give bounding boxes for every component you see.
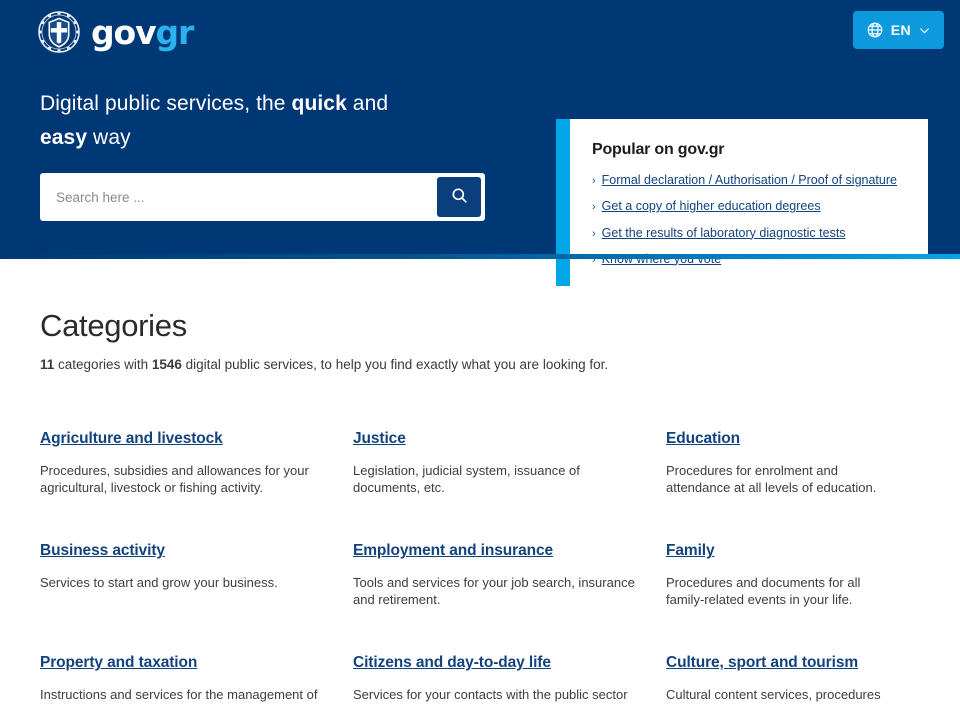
logo-text-gov: gov: [91, 13, 156, 52]
chevron-down-icon: [918, 24, 931, 37]
category-link-agriculture[interactable]: Agriculture and livestock: [40, 430, 223, 449]
hero-headline-bold-quick: quick: [292, 92, 347, 115]
greek-coat-of-arms-icon: [38, 11, 80, 53]
popular-list-item: › Get the results of laboratory diagnost…: [592, 225, 908, 241]
category-link-family[interactable]: Family: [666, 542, 715, 561]
top-bar: govgr EN: [0, 0, 960, 56]
hero-headline-part-1: Digital public services, the: [40, 92, 292, 115]
language-selector-button[interactable]: EN: [853, 11, 944, 49]
hero-content: Digital public services, the quick and e…: [0, 56, 960, 286]
chevron-right-icon: ›: [592, 176, 596, 187]
category-description: Services for your contacts with the publ…: [353, 686, 635, 706]
category-description: Instructions and services for the manage…: [40, 686, 322, 706]
page-title: Categories: [40, 309, 920, 343]
popular-accent-bar: [556, 119, 570, 286]
category-link-culture-sport-tourism[interactable]: Culture, sport and tourism: [666, 654, 858, 673]
category-link-business-activity[interactable]: Business activity: [40, 542, 165, 561]
categories-summary: 11 categories with 1546 digital public s…: [40, 356, 920, 375]
category-card-employment-insurance: Employment and insurance Tools and servi…: [353, 542, 666, 608]
category-card-property-taxation: Property and taxation Instructions and s…: [40, 654, 353, 706]
hero-left-column: Digital public services, the quick and e…: [0, 56, 556, 286]
search-icon: [450, 186, 469, 208]
popular-link-education-degrees[interactable]: Get a copy of higher education degrees: [602, 198, 821, 214]
category-link-property-taxation[interactable]: Property and taxation: [40, 654, 197, 673]
popular-links-list: › Formal declaration / Authorisation / P…: [592, 172, 908, 267]
govgr-logo[interactable]: govgr: [38, 11, 193, 53]
popular-list-item: › Formal declaration / Authorisation / P…: [592, 172, 908, 188]
category-description: Services to start and grow your business…: [40, 574, 322, 591]
category-card-justice: Justice Legislation, judicial system, is…: [353, 430, 666, 496]
category-card-business-activity: Business activity Services to start and …: [40, 542, 353, 608]
hero-gradient-divider: [0, 254, 960, 259]
main-content: Categories 11 categories with 1546 digit…: [0, 259, 960, 706]
category-link-education[interactable]: Education: [666, 430, 740, 449]
hero-headline-bold-easy: easy: [40, 126, 87, 149]
category-link-justice[interactable]: Justice: [353, 430, 406, 449]
hero-headline-part-2: and: [347, 92, 388, 115]
language-code-label: EN: [891, 23, 911, 37]
categories-count: 11: [40, 357, 54, 372]
hero-headline-part-3: way: [87, 126, 131, 149]
category-card-culture-sport-tourism: Culture, sport and tourism Cultural cont…: [666, 654, 920, 706]
popular-link-formal-declaration[interactable]: Formal declaration / Authorisation / Pro…: [602, 172, 897, 188]
category-description: Cultural content services, procedures fo…: [666, 686, 896, 706]
search-submit-button[interactable]: [437, 177, 481, 217]
category-description: Tools and services for your job search, …: [353, 574, 635, 609]
search-input[interactable]: [44, 177, 437, 217]
popular-link-laboratory-tests[interactable]: Get the results of laboratory diagnostic…: [602, 225, 846, 241]
categories-grid: Agriculture and livestock Procedures, su…: [40, 430, 920, 706]
popular-list-item: › Get a copy of higher education degrees: [592, 198, 908, 214]
services-count: 1546: [152, 357, 182, 372]
category-link-employment-insurance[interactable]: Employment and insurance: [353, 542, 553, 561]
chevron-right-icon: ›: [592, 229, 596, 240]
categories-summary-end: digital public services, to help you fin…: [182, 357, 608, 372]
logo-text-gr: gr: [156, 13, 194, 52]
popular-panel-body: Popular on gov.gr › Formal declaration /…: [570, 119, 928, 286]
popular-panel-title: Popular on gov.gr: [592, 141, 908, 159]
category-card-citizens-daily-life: Citizens and day-to-day life Services fo…: [353, 654, 666, 706]
search-bar: [40, 173, 485, 221]
category-description: Procedures and documents for all family-…: [666, 574, 896, 609]
category-link-citizens-daily-life[interactable]: Citizens and day-to-day life: [353, 654, 551, 673]
hero-headline: Digital public services, the quick and e…: [40, 87, 440, 155]
chevron-right-icon: ›: [592, 202, 596, 213]
logo-wordmark: govgr: [91, 16, 193, 49]
globe-icon: [866, 21, 884, 39]
category-description: Legislation, judicial system, issuance o…: [353, 462, 635, 497]
hero-banner: govgr EN Digital public servi: [0, 0, 960, 259]
categories-summary-mid: categories with: [54, 357, 152, 372]
category-description: Procedures, subsidies and allowances for…: [40, 462, 322, 497]
category-card-agriculture: Agriculture and livestock Procedures, su…: [40, 430, 353, 496]
popular-panel: Popular on gov.gr › Formal declaration /…: [556, 119, 928, 286]
category-card-education: Education Procedures for enrolment and a…: [666, 430, 920, 496]
category-description: Procedures for enrolment and attendance …: [666, 462, 896, 497]
category-card-family: Family Procedures and documents for all …: [666, 542, 920, 608]
